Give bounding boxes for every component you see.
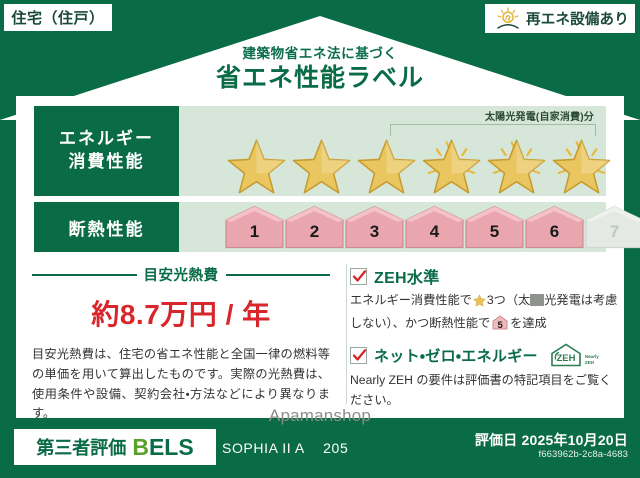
zeh-standard-heading: ZEH水準 — [350, 264, 618, 288]
renewable-equipment-label: 再エネ設備あり — [526, 8, 629, 29]
check-icon — [350, 268, 367, 285]
insulation-level-2: 2 — [285, 205, 344, 249]
insulation-level-number: 4 — [405, 222, 464, 242]
insulation-level-number: 7 — [585, 222, 640, 242]
cost-heading-text: 目安光熱費 — [144, 264, 219, 285]
inline-insulation-badge-number: 5 — [492, 318, 508, 333]
zeh-standard-title: ZEH水準 — [374, 264, 440, 288]
zeh-note-part2: 3つ（太 — [487, 293, 530, 307]
bels-letter-e: E — [149, 434, 164, 461]
third-party-evaluation-label: 第三者評価 — [36, 434, 126, 460]
details-section: 目安光熱費 約8.7万円 / 年 目安光熱費は、住宅の省エネ性能と全国一律の燃料… — [16, 258, 624, 416]
energy-star-4 — [420, 132, 483, 194]
energy-star-1 — [225, 132, 288, 194]
solar-generation-caption: 太陽光発電(自家消費)分 — [485, 108, 594, 123]
insulation-level-number: 2 — [285, 222, 344, 242]
insulation-level-5: 5 — [465, 205, 524, 249]
zeh-logo-sub-line2: ZEH — [585, 360, 594, 365]
insulation-level-3: 3 — [345, 205, 404, 249]
cost-heading: 目安光熱費 — [32, 264, 330, 285]
label-title: 省エネ性能ラベル — [0, 58, 640, 94]
check-icon — [350, 347, 367, 364]
cost-note: 目安光熱費は、住宅の省エネ性能と全国一律の燃料等の単価を用いて算出したものです。… — [32, 345, 330, 424]
dwelling-type-badge: 住宅（住戸） — [4, 4, 112, 31]
net-zero-heading: ネット・ゼロ・エネルギー ZEH Nearly ZEH — [350, 342, 618, 368]
insulation-level-number: 1 — [225, 222, 284, 242]
zeh-note-part1: エネルギー消費性能で — [350, 293, 472, 307]
cost-rule-right — [226, 274, 331, 276]
energy-performance-body: 太陽光発電(自家消費)分 — [179, 106, 606, 196]
zeh-standard-note: エネルギー消費性能で3つ（太光発電は考慮しない）、かつ断熱性能で5を達成 — [350, 291, 618, 336]
energy-star-3 — [355, 132, 418, 194]
energy-star-6 — [550, 132, 613, 194]
bels-letter-b: B — [132, 434, 149, 461]
svg-text:ZEH: ZEH — [556, 353, 575, 364]
insulation-level-scale: 1 2 3 4 5 — [225, 205, 640, 249]
dwelling-type-label: 住宅（住戸） — [11, 7, 104, 28]
evaluation-date: 評価日 2025年10月20日 — [475, 430, 628, 450]
solar-range-bracket — [390, 124, 596, 136]
insulation-level-number: 6 — [525, 222, 584, 242]
insulation-level-number: 5 — [465, 222, 524, 242]
redacted-text-block — [530, 294, 544, 306]
renewable-equipment-badge: 再エネ設備あり — [485, 4, 635, 33]
property-name: SOPHIA II A 205 — [222, 438, 348, 458]
energy-star-5 — [485, 132, 548, 194]
energy-label-line2: 消費性能 — [69, 151, 145, 174]
evaluation-id: f663962b-2c8a-4683 — [539, 449, 629, 460]
zeh-note-part4: を達成 — [510, 316, 547, 330]
insulation-level-4: 4 — [405, 205, 464, 249]
estimated-utility-cost-column: 目安光熱費 約8.7万円 / 年 目安光熱費は、住宅の省エネ性能と全国一律の燃料… — [16, 258, 346, 416]
label-card: エネルギー 消費性能 太陽光発電(自家消費)分 — [16, 96, 624, 418]
bels-letter-l: L — [164, 434, 178, 461]
insulation-performance-body: 1 2 3 4 5 — [179, 202, 606, 252]
bels-logo: BELS — [132, 434, 193, 461]
net-zero-title: ネット・ゼロ・エネルギー — [374, 345, 538, 366]
inline-insulation-badge: 5 — [492, 315, 508, 337]
insulation-level-number: 3 — [345, 222, 404, 242]
insulation-performance-row: 断熱性能 1 2 3 4 — [34, 202, 606, 252]
energy-label-line1: エネルギー — [59, 128, 154, 151]
bels-letter-s: S — [178, 434, 193, 461]
energy-star-rating — [225, 132, 613, 194]
net-zero-note: Nearly ZEH の要件は評価書の特記項目をご覧ください。 — [350, 371, 618, 410]
insulation-level-7: 7 — [585, 205, 640, 249]
zeh-logo-sub-line1: Nearly — [585, 354, 599, 359]
bels-plate: 第三者評価 BELS — [14, 429, 216, 465]
energy-performance-row: エネルギー 消費性能 太陽光発電(自家消費)分 — [34, 106, 606, 196]
insulation-level-1: 1 — [225, 205, 284, 249]
zeh-logo-icon: ZEH Nearly ZEH — [549, 342, 599, 368]
zeh-column: ZEH水準 エネルギー消費性能で3つ（太光発電は考慮しない）、かつ断熱性能で5を… — [346, 258, 624, 416]
label-footer: 第三者評価 BELS SOPHIA II A 205 評価日 2025年10月2… — [0, 420, 640, 478]
sun-icon — [495, 7, 521, 31]
insulation-performance-label: 断熱性能 — [34, 202, 179, 252]
insulation-label-text: 断熱性能 — [69, 215, 145, 240]
insulation-level-6: 6 — [525, 205, 584, 249]
energy-star-2 — [290, 132, 353, 194]
energy-performance-label: 住宅（住戸） 再エネ設備あり 建築物省エネ法に基づく 省エネ性能ラベル — [0, 0, 640, 478]
zeh-logo-sublabel: Nearly ZEH — [585, 354, 599, 368]
cost-value: 約8.7万円 / 年 — [32, 293, 330, 333]
energy-performance-label: エネルギー 消費性能 — [34, 106, 179, 196]
inline-star-icon — [473, 296, 486, 310]
cost-rule-left — [32, 274, 137, 276]
